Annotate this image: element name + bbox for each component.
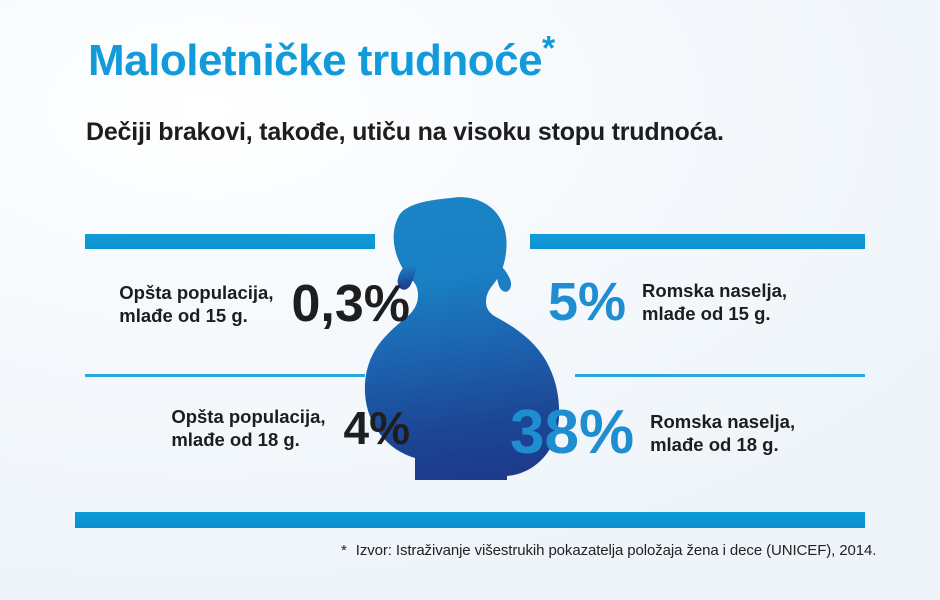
stat-value: 0,3%	[291, 278, 410, 330]
divider-bar-top-right	[530, 234, 865, 249]
stat-label-line2: mlađe od 15 g.	[642, 302, 787, 325]
footnote-text: Izvor: Istraživanje višestrukih pokazate…	[356, 542, 877, 559]
stat-label-line1: Opšta populacija,	[171, 405, 325, 428]
page-subtitle: Dečiji brakovi, takođe, utiču na visoku …	[86, 118, 724, 147]
stat-roma-settlements-under-15: 5% Romska naselja, mlađe od 15 g.	[548, 275, 878, 329]
stat-value: 4%	[344, 405, 410, 451]
stat-roma-settlements-under-18: 38% Romska naselja, mlađe od 18 g.	[510, 402, 880, 464]
stat-label-line1: Romska naselja,	[642, 279, 787, 302]
stat-general-population-under-18: Opšta populacija, mlađe od 18 g. 4%	[85, 405, 410, 451]
stat-label-line2: mlađe od 18 g.	[650, 433, 795, 456]
divider-line-mid-left	[85, 374, 365, 377]
divider-bar-top-left	[85, 234, 375, 249]
stat-general-population-under-15: Opšta populacija, mlađe od 15 g. 0,3%	[85, 278, 410, 330]
source-footnote: *Izvor: Istraživanje višestrukih pokazat…	[341, 542, 876, 559]
stat-label: Romska naselja, mlađe od 15 g.	[642, 279, 787, 325]
stat-label-line1: Opšta populacija,	[119, 281, 273, 304]
infographic-root: Maloletničke trudnoće* Dečiji brakovi, t…	[0, 0, 940, 600]
divider-line-mid-right	[575, 374, 865, 377]
footnote-marker: *	[341, 542, 347, 559]
stat-value: 38%	[510, 402, 634, 464]
stat-label-line1: Romska naselja,	[650, 410, 795, 433]
title-footnote-marker: *	[542, 29, 555, 67]
page-title: Maloletničke trudnoće*	[88, 38, 555, 84]
stat-value: 5%	[548, 275, 626, 329]
page-title-text: Maloletničke trudnoće	[88, 36, 542, 85]
stat-label: Romska naselja, mlađe od 18 g.	[650, 410, 795, 456]
stat-label: Opšta populacija, mlađe od 15 g.	[119, 281, 273, 327]
divider-bar-bottom	[75, 512, 865, 528]
stat-label-line2: mlađe od 15 g.	[119, 304, 273, 327]
stat-label: Opšta populacija, mlađe od 18 g.	[171, 405, 325, 451]
stat-label-line2: mlađe od 18 g.	[171, 428, 325, 451]
